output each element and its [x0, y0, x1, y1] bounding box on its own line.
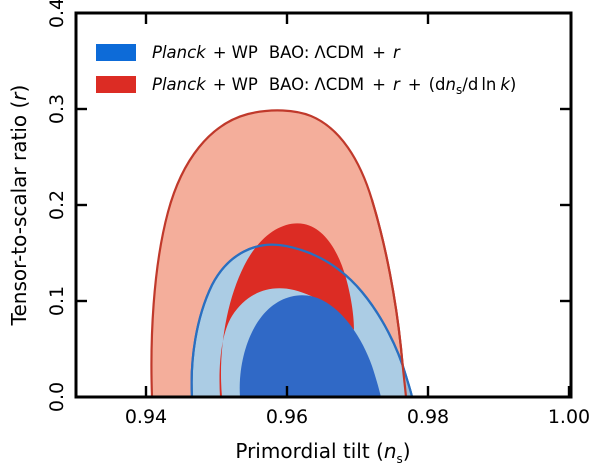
x-tick-label-2: 0.98 — [407, 406, 449, 428]
legend-0-sep2: + — [372, 43, 386, 62]
legend-1-running-n: n — [446, 75, 456, 94]
y-tick-label-1: 0.1 — [46, 286, 68, 316]
legend-0-bao: BAO: — [269, 43, 310, 62]
x-axis-title-symbol: n — [384, 439, 397, 463]
y-axis-title: Tensor-to-scalar ratio (r) — [7, 85, 31, 327]
x-tick-label-3: 1.00 — [548, 406, 590, 428]
x-tick-label-0: 0.94 — [125, 406, 167, 428]
y-tick-label-3: 0.3 — [46, 94, 68, 124]
legend-1-wp: WP — [232, 75, 258, 94]
legend-swatch-1 — [96, 76, 136, 93]
y-tick-label-0: 0.0 — [46, 382, 68, 412]
legend-1-running-d2: d — [468, 75, 478, 94]
y-axis-title-main: Tensor-to-scalar ratio ( — [7, 101, 31, 327]
legend-1-sep2: + — [372, 75, 386, 94]
x-axis-title-main: Primordial tilt ( — [235, 439, 383, 463]
legend-1-lcdm: ΛCDM — [314, 75, 364, 94]
legend-0-lcdm: ΛCDM — [314, 43, 364, 62]
legend-1-sep1: + — [213, 75, 227, 94]
legend-swatch-0 — [96, 44, 136, 61]
legend-1-running-open: (d — [429, 75, 446, 94]
legend-1-running-close: ) — [510, 75, 516, 94]
legend-1-bao: BAO: — [269, 75, 310, 94]
legend-0-wp: WP — [232, 43, 258, 62]
figure-container: 0.94 0.96 0.98 1.00 0.0 0.1 0.2 0.3 0.4 … — [0, 0, 600, 472]
y-tick-label-2: 0.2 — [46, 190, 68, 220]
legend-0-planck: Planck — [152, 43, 207, 62]
x-tick-label-1: 0.96 — [266, 406, 308, 428]
y-axis-title-close: ) — [7, 85, 31, 93]
y-tick-label-4: 0.4 — [46, 0, 68, 28]
legend-1-running-ln: ln — [481, 75, 496, 94]
cosmology-contour-plot: 0.94 0.96 0.98 1.00 0.0 0.1 0.2 0.3 0.4 … — [0, 0, 600, 472]
x-axis-title: Primordial tilt (ns) — [235, 439, 410, 466]
legend-1-sep3: + — [408, 75, 422, 94]
legend-1-planck: Planck — [152, 75, 207, 94]
legend-0-sep1: + — [213, 43, 227, 62]
legend-label-0: Planck+WPBAO:ΛCDM+r — [152, 43, 401, 62]
x-axis-title-close: ) — [403, 439, 411, 463]
